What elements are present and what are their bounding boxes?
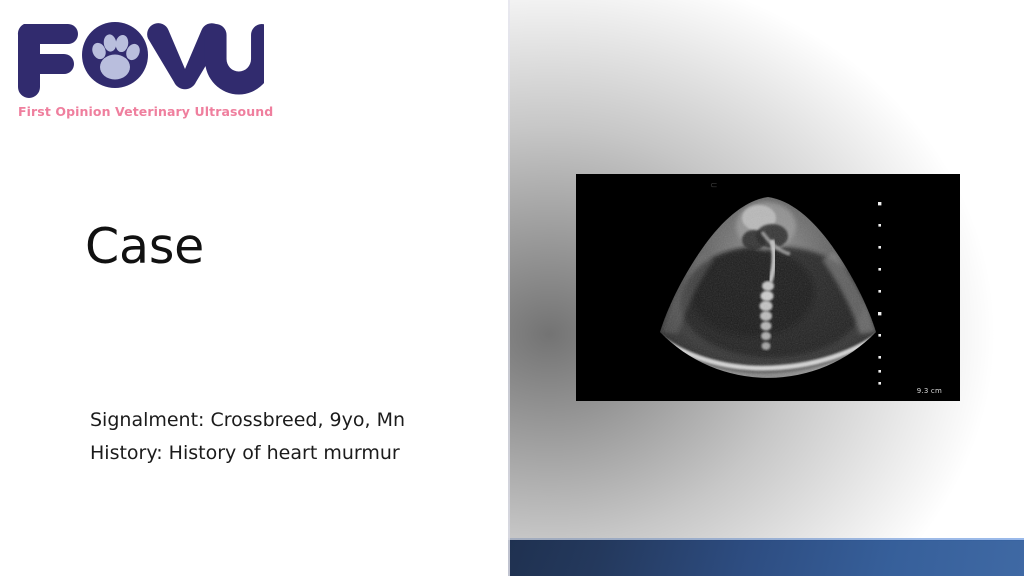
brand-logo: First Opinion Veterinary Ultrasound <box>14 16 274 119</box>
probe-orientation-marker-icon: ⊂ <box>710 182 718 191</box>
fovu-wordmark-icon <box>14 16 264 98</box>
case-details: Signalment: Crossbreed, 9yo, Mn History:… <box>90 404 490 470</box>
left-content-panel: First Opinion Veterinary Ultrasound Case… <box>0 0 508 576</box>
panel-bottom-band <box>508 540 1024 576</box>
panel-left-edge <box>508 0 510 576</box>
depth-label: 9.3 cm <box>917 387 942 395</box>
logo-tagline: First Opinion Veterinary Ultrasound <box>18 104 274 119</box>
signalment-line: Signalment: Crossbreed, 9yo, Mn <box>90 404 490 437</box>
slide: First Opinion Veterinary Ultrasound Case… <box>0 0 1024 576</box>
page-title: Case <box>85 222 204 271</box>
ultrasound-sector-render <box>576 174 960 401</box>
ultrasound-image: ⊂ 9.3 cm <box>576 174 960 401</box>
history-line: History: History of heart murmur <box>90 437 490 470</box>
